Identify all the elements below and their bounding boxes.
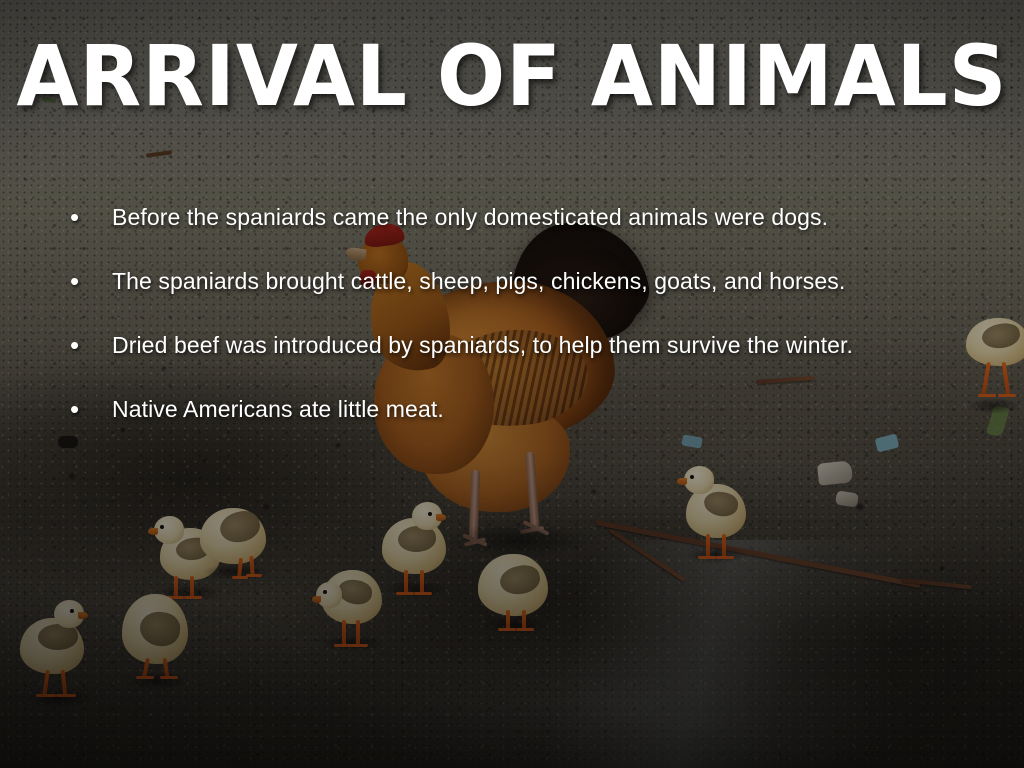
bullet-marker-icon: • [62,200,112,234]
slide-title: ARRIVAL OF ANIMALS [0,34,1024,118]
bullet-text-4: Native Americans ate little meat. [112,392,444,426]
bullet-marker-icon: • [62,264,112,298]
bullet-item-4: • Native Americans ate little meat. [62,392,992,430]
slide-content: ARRIVAL OF ANIMALS • Before the spaniard… [0,0,1024,768]
bullet-item-3: • Dried beef was introduced by spaniards… [62,328,992,366]
presentation-slide: ARRIVAL OF ANIMALS • Before the spaniard… [0,0,1024,768]
bullet-marker-icon: • [62,392,112,426]
bullet-marker-icon: • [62,328,112,362]
bullet-item-1: • Before the spaniards came the only dom… [62,200,992,238]
bullet-text-2: The spaniards brought cattle, sheep, pig… [112,264,845,298]
bullet-item-2: • The spaniards brought cattle, sheep, p… [62,264,992,302]
bullet-text-1: Before the spaniards came the only domes… [112,200,828,234]
bullet-text-3: Dried beef was introduced by spaniards, … [112,328,853,362]
bullet-list: • Before the spaniards came the only dom… [62,200,992,456]
